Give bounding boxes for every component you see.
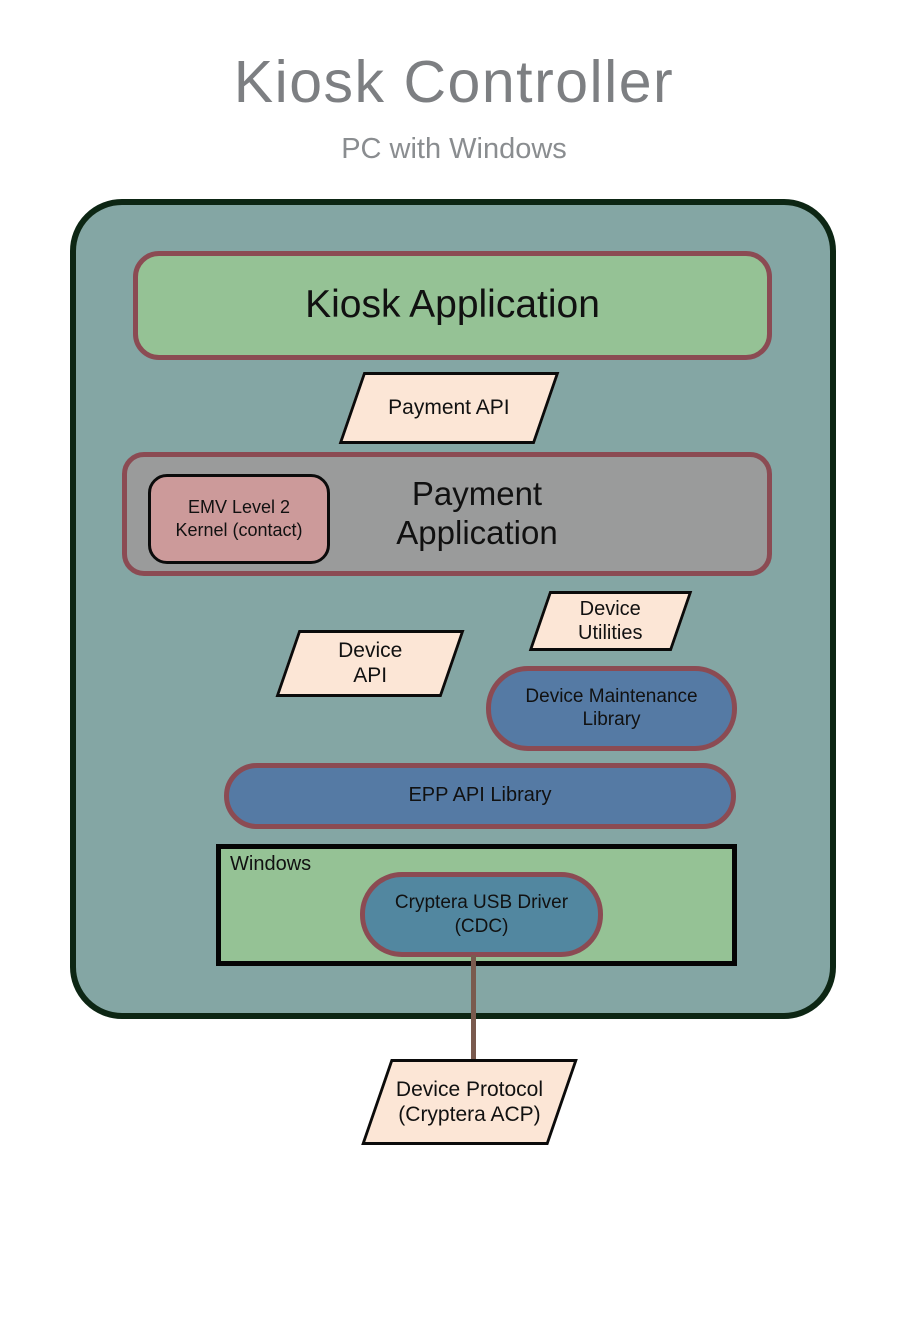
- page-title: Kiosk Controller: [0, 53, 908, 112]
- device-api-line-1: Device: [338, 639, 402, 662]
- device-maintenance-library-line-1: Device Maintenance: [525, 686, 697, 707]
- device-protocol-line-2: (Cryptera ACP): [398, 1103, 540, 1126]
- connector-driver-to-device-protocol: [471, 955, 476, 1061]
- block-cryptera-usb-driver-label: Cryptera USB Driver (CDC): [395, 891, 568, 939]
- device-protocol-line-1: Device Protocol: [396, 1078, 543, 1101]
- device-api-line-2: API: [353, 665, 387, 688]
- device-utilities-line-1: Device: [580, 598, 641, 620]
- block-cryptera-usb-driver[interactable]: Cryptera USB Driver (CDC): [360, 872, 603, 957]
- block-kiosk-application-label: Kiosk Application: [305, 282, 600, 328]
- block-epp-api-library[interactable]: EPP API Library: [224, 763, 736, 829]
- payment-application-line-2: Application: [396, 514, 557, 551]
- device-maintenance-library-line-2: Library: [582, 709, 640, 730]
- interface-device-utilities[interactable]: Device Utilities: [529, 591, 693, 651]
- interface-device-api[interactable]: Device API: [275, 630, 464, 697]
- interface-payment-api[interactable]: Payment API: [339, 372, 560, 444]
- interface-device-protocol[interactable]: Device Protocol (Cryptera ACP): [361, 1059, 578, 1145]
- block-kiosk-application[interactable]: Kiosk Application: [133, 251, 772, 360]
- block-windows-os: Windows Cryptera USB Driver (CDC): [216, 844, 737, 966]
- cryptera-usb-driver-line-2: (CDC): [455, 916, 509, 937]
- interface-payment-api-label: Payment API: [388, 395, 509, 420]
- block-payment-application[interactable]: EMV Level 2 Kernel (contact) Payment App…: [122, 452, 772, 576]
- block-device-maintenance-library[interactable]: Device Maintenance Library: [486, 666, 737, 751]
- interface-device-api-label: Device API: [338, 638, 402, 688]
- block-payment-application-label: Payment Application: [187, 475, 767, 553]
- cryptera-usb-driver-line-1: Cryptera USB Driver: [395, 892, 568, 913]
- block-epp-api-library-label: EPP API Library: [408, 784, 551, 808]
- block-windows-os-label: Windows: [230, 853, 311, 876]
- block-device-maintenance-library-label: Device Maintenance Library: [525, 686, 697, 731]
- payment-application-line-1: Payment: [412, 475, 542, 512]
- device-utilities-line-2: Utilities: [578, 622, 642, 644]
- page-subtitle: PC with Windows: [0, 135, 908, 164]
- interface-device-protocol-label: Device Protocol (Cryptera ACP): [396, 1077, 543, 1127]
- interface-device-utilities-label: Device Utilities: [578, 597, 642, 645]
